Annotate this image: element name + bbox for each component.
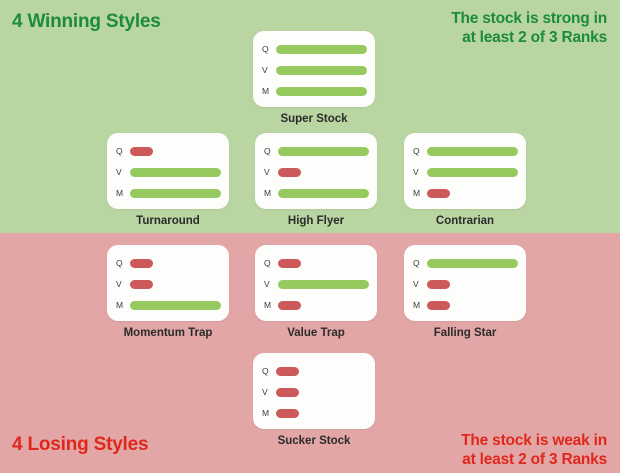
rank-card: QVM bbox=[107, 245, 229, 321]
rank-letter: M bbox=[264, 189, 278, 198]
rank-letter: V bbox=[262, 388, 276, 397]
winning-styles-title: 4 Winning Styles bbox=[12, 11, 161, 33]
rank-bar-strong bbox=[276, 87, 367, 96]
rank-bar-strong bbox=[130, 189, 221, 198]
rank-letter: V bbox=[262, 66, 276, 75]
rank-bar-weak bbox=[276, 367, 299, 376]
rank-row: V bbox=[413, 166, 518, 179]
rank-bar-strong bbox=[427, 147, 518, 156]
weak-note-line-1: The stock is weak in bbox=[461, 431, 607, 450]
rank-row: M bbox=[262, 407, 367, 420]
style-card-high-flyer: QVMHigh Flyer bbox=[255, 133, 377, 209]
rank-row: M bbox=[262, 85, 367, 98]
rank-row: Q bbox=[413, 257, 518, 270]
rank-bar-weak bbox=[130, 147, 153, 156]
style-card-label: Turnaround bbox=[136, 215, 200, 227]
style-card-value-trap: QVMValue Trap bbox=[255, 245, 377, 321]
rank-row: Q bbox=[262, 43, 367, 56]
rank-letter: Q bbox=[116, 147, 130, 156]
losing-styles-title: 4 Losing Styles bbox=[12, 434, 148, 456]
rank-row: M bbox=[264, 187, 369, 200]
style-card-label: Value Trap bbox=[287, 327, 345, 339]
style-card-label: Super Stock bbox=[280, 113, 347, 125]
rank-row: M bbox=[413, 299, 518, 312]
style-card-label: Falling Star bbox=[434, 327, 497, 339]
rank-row: M bbox=[116, 187, 221, 200]
rank-letter: V bbox=[116, 280, 130, 289]
rank-bar-strong bbox=[278, 280, 369, 289]
rank-bar-weak bbox=[130, 280, 153, 289]
rank-row: V bbox=[413, 278, 518, 291]
rank-row: M bbox=[264, 299, 369, 312]
weak-note-line-2: at least 2 of 3 Ranks bbox=[461, 450, 607, 469]
rank-letter: Q bbox=[262, 367, 276, 376]
style-card-super-stock: QVMSuper Stock bbox=[253, 31, 375, 107]
style-matrix-infographic: 4 Winning Styles The stock is strong in … bbox=[0, 0, 620, 473]
rank-card: QVM bbox=[107, 133, 229, 209]
rank-bar-strong bbox=[276, 66, 367, 75]
rank-card: QVM bbox=[255, 133, 377, 209]
rank-letter: Q bbox=[413, 259, 427, 268]
rank-letter: V bbox=[264, 168, 278, 177]
rank-row: Q bbox=[116, 145, 221, 158]
rank-letter: M bbox=[116, 301, 130, 310]
rank-row: Q bbox=[116, 257, 221, 270]
style-card-sucker-stock: QVMSucker Stock bbox=[253, 353, 375, 429]
style-card-contrarian: QVMContrarian bbox=[404, 133, 526, 209]
rank-bar-weak bbox=[278, 168, 301, 177]
rank-row: Q bbox=[264, 145, 369, 158]
rank-row: V bbox=[262, 386, 367, 399]
weak-stock-note: The stock is weak in at least 2 of 3 Ran… bbox=[461, 431, 607, 469]
rank-row: Q bbox=[264, 257, 369, 270]
rank-bar-strong bbox=[278, 189, 369, 198]
rank-bar-weak bbox=[276, 388, 299, 397]
rank-card: QVM bbox=[404, 133, 526, 209]
strong-note-line-1: The stock is strong in bbox=[451, 9, 607, 28]
rank-bar-weak bbox=[427, 280, 450, 289]
rank-letter: Q bbox=[116, 259, 130, 268]
rank-row: M bbox=[116, 299, 221, 312]
rank-card: QVM bbox=[255, 245, 377, 321]
rank-bar-strong bbox=[427, 168, 518, 177]
rank-card: QVM bbox=[404, 245, 526, 321]
rank-row: V bbox=[262, 64, 367, 77]
rank-letter: M bbox=[116, 189, 130, 198]
rank-letter: M bbox=[262, 409, 276, 418]
rank-letter: M bbox=[264, 301, 278, 310]
rank-bar-weak bbox=[130, 259, 153, 268]
rank-card: QVM bbox=[253, 31, 375, 107]
rank-letter: V bbox=[264, 280, 278, 289]
rank-letter: V bbox=[116, 168, 130, 177]
rank-bar-strong bbox=[130, 168, 221, 177]
rank-letter: M bbox=[262, 87, 276, 96]
rank-row: V bbox=[116, 166, 221, 179]
rank-bar-weak bbox=[276, 409, 299, 418]
rank-bar-strong bbox=[276, 45, 367, 54]
rank-letter: V bbox=[413, 168, 427, 177]
rank-letter: M bbox=[413, 189, 427, 198]
rank-letter: Q bbox=[264, 147, 278, 156]
rank-letter: Q bbox=[413, 147, 427, 156]
rank-bar-strong bbox=[130, 301, 221, 310]
rank-card: QVM bbox=[253, 353, 375, 429]
rank-bar-weak bbox=[278, 301, 301, 310]
style-card-turnaround: QVMTurnaround bbox=[107, 133, 229, 209]
strong-note-line-2: at least 2 of 3 Ranks bbox=[451, 28, 607, 47]
rank-letter: Q bbox=[264, 259, 278, 268]
strong-stock-note: The stock is strong in at least 2 of 3 R… bbox=[451, 9, 607, 47]
rank-bar-weak bbox=[427, 301, 450, 310]
rank-letter: M bbox=[413, 301, 427, 310]
rank-row: V bbox=[264, 166, 369, 179]
rank-letter: Q bbox=[262, 45, 276, 54]
rank-row: V bbox=[264, 278, 369, 291]
style-card-label: High Flyer bbox=[288, 215, 344, 227]
style-card-label: Sucker Stock bbox=[278, 435, 351, 447]
style-card-momentum-trap: QVMMomentum Trap bbox=[107, 245, 229, 321]
rank-row: V bbox=[116, 278, 221, 291]
rank-bar-strong bbox=[278, 147, 369, 156]
style-card-label: Contrarian bbox=[436, 215, 494, 227]
rank-bar-weak bbox=[427, 189, 450, 198]
style-card-falling-star: QVMFalling Star bbox=[404, 245, 526, 321]
rank-row: Q bbox=[262, 365, 367, 378]
rank-bar-strong bbox=[427, 259, 518, 268]
style-card-label: Momentum Trap bbox=[124, 327, 213, 339]
rank-row: Q bbox=[413, 145, 518, 158]
rank-row: M bbox=[413, 187, 518, 200]
rank-bar-weak bbox=[278, 259, 301, 268]
rank-letter: V bbox=[413, 280, 427, 289]
